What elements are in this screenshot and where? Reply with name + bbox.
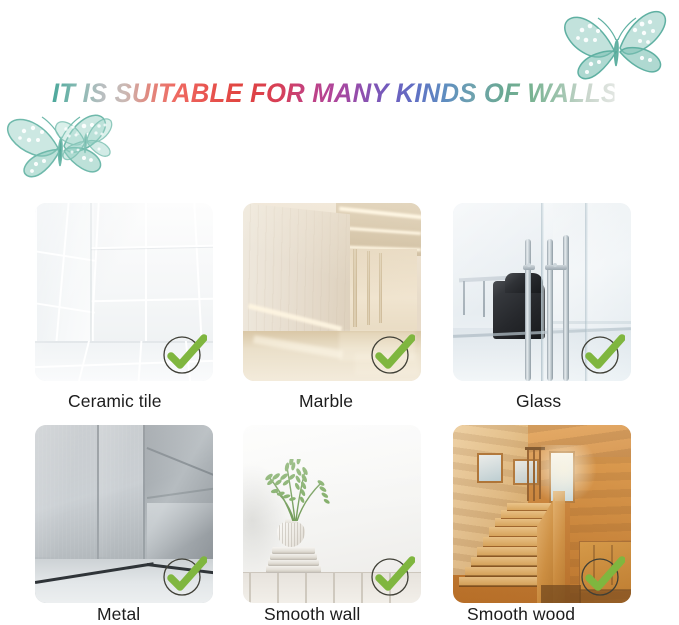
surface-label-ceramic-tile: Ceramic tile — [68, 391, 162, 412]
check-icon — [369, 553, 415, 599]
surface-label-glass: Glass — [516, 391, 561, 412]
surface-label-smooth-wood: Smooth wood — [467, 604, 575, 625]
surface-card-ceramic-tile — [35, 203, 213, 381]
surface-label-metal: Metal — [97, 604, 140, 625]
surface-card-smooth-wood — [453, 425, 631, 603]
check-icon — [161, 331, 207, 377]
check-icon — [369, 331, 415, 377]
surface-card-metal — [35, 425, 213, 603]
infographic-canvas: IT IS SUITABLE FOR MANY KINDS OF WALLS — [0, 0, 679, 625]
surface-label-marble: Marble — [299, 391, 353, 412]
surface-card-smooth-wall — [243, 425, 421, 603]
page-title: IT IS SUITABLE FOR MANY KINDS OF WALLS — [52, 78, 615, 110]
check-icon — [579, 553, 625, 599]
check-icon — [579, 331, 625, 377]
check-icon — [161, 553, 207, 599]
surface-card-glass — [453, 203, 631, 381]
butterfly-icon — [52, 112, 114, 170]
surface-label-smooth-wall: Smooth wall — [264, 604, 360, 625]
surface-card-marble — [243, 203, 421, 381]
